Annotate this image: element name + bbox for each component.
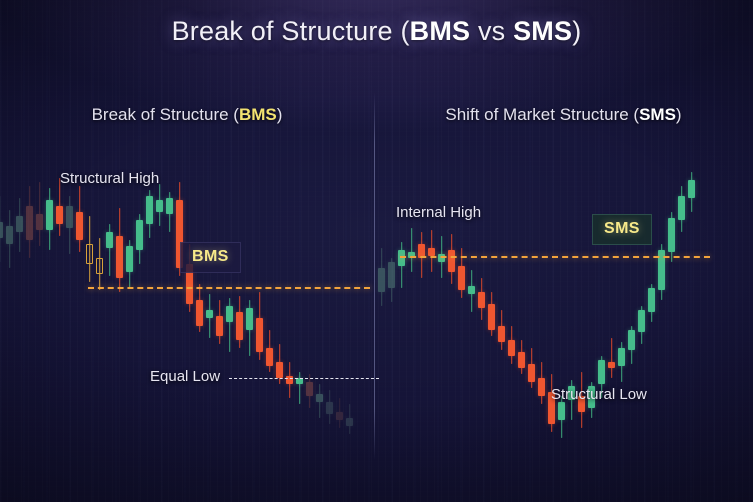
candle-body [508,340,515,356]
candlestick [66,196,73,254]
candle-body [618,348,625,366]
candle-body [106,232,113,248]
candlestick [418,232,425,278]
candlestick [196,284,203,332]
candle-body [226,306,233,322]
page-title-prefix: Break of Structure ( [172,16,410,46]
candlestick [16,198,23,252]
candlestick [428,230,435,272]
candlestick [528,348,535,388]
page-title-suffix: ) [572,16,581,46]
candlestick [548,374,555,432]
page-title-sms: SMS [513,16,572,46]
candle-body [528,364,535,382]
candle-body [326,402,333,414]
candlestick [246,300,253,356]
candle-body [236,312,243,340]
candle-body [316,394,323,402]
candlestick [638,306,645,344]
candle-wick [611,338,613,378]
candle-body [598,360,605,384]
candle-body [628,330,635,350]
candle-body [678,196,685,220]
candle-body [558,402,565,420]
candlestick [498,310,505,350]
candle-body [398,250,405,266]
candle-body [116,236,123,278]
candle-body [136,220,143,250]
candlestick [96,238,103,290]
candle-body [518,352,525,368]
candlestick [76,186,83,252]
candlestick [86,216,93,282]
annotation-equal-low: Equal Low [150,368,220,385]
candle-body [688,180,695,198]
candle-body [306,382,313,396]
candle-body [668,218,675,252]
candle-body [66,206,73,228]
candlestick [618,342,625,382]
candle-body [378,268,385,292]
candlestick [6,210,13,268]
candlestick [336,398,343,428]
candle-body [336,412,343,420]
candlestick [628,326,635,364]
annotation-structural-high: Structural High [60,170,159,187]
candle-body [46,200,53,230]
candlestick [156,184,163,226]
candle-body [388,262,395,288]
left-panel-title: Break of Structure (BMS) [0,105,374,125]
right-panel-title-prefix: Shift of Market Structure ( [445,105,639,124]
candlestick [448,234,455,284]
candle-body [56,206,63,224]
candle-body [428,248,435,256]
candlestick [538,362,545,404]
candle-wick [411,228,413,272]
page-title-bms: BMS [410,16,471,46]
candle-body [76,212,83,240]
candlestick [608,338,615,378]
candle-body [196,300,203,326]
candlestick [106,224,113,276]
candle-body [246,308,253,330]
candle-body [156,200,163,212]
candle-body [538,378,545,396]
candlestick [146,190,153,238]
candlestick [306,374,313,408]
candle-body [498,326,505,342]
candle-body [648,288,655,312]
left-panel-title-suffix: ) [277,105,283,124]
candlestick [668,212,675,262]
candlestick [658,244,665,300]
candlestick [648,284,655,322]
candlestick [488,292,495,336]
candle-body [6,226,13,244]
candlestick [508,326,515,364]
candle-body [36,214,43,230]
sms-break-line [400,256,710,258]
bms-badge: BMS [180,242,241,273]
candle-body [468,286,475,294]
candle-body [256,318,263,352]
candlestick [468,270,475,312]
candlestick [36,182,43,246]
candlestick [256,292,263,360]
candle-body [266,348,273,366]
candle-body [126,246,133,272]
candlestick [26,186,33,258]
candlestick [296,372,303,404]
page-title-mid: vs [470,16,513,46]
candlestick [166,192,173,232]
candlestick-chart-sms [374,0,753,502]
page-title: Break of Structure (BMS vs SMS) [0,16,753,47]
candlestick [266,330,273,372]
candle-body [478,292,485,308]
right-panel-title-suffix: ) [676,105,682,124]
candlestick [378,248,385,306]
annotation-structural-low: Structural Low [551,386,647,403]
candlestick [236,296,243,348]
candle-wick [299,372,301,404]
candlestick [478,278,485,320]
candle-body [216,316,223,336]
candle-body [448,250,455,272]
left-panel-title-prefix: Break of Structure ( [92,105,239,124]
candle-body [206,310,213,318]
candle-body [96,258,103,274]
candlestick [116,208,123,292]
candlestick [408,228,415,272]
candlestick [678,186,685,232]
candle-body [458,266,465,290]
candlestick [316,384,323,418]
slide-canvas: Break of Structure (BMS vs SMS) Break of… [0,0,753,502]
candle-body [638,310,645,332]
candlestick [286,362,293,398]
left-panel-title-key: BMS [239,105,277,124]
annotation-internal-high: Internal High [396,204,481,221]
candlestick [206,294,213,338]
bms-break-line [88,287,370,289]
candlestick [326,390,333,424]
candle-body [276,362,283,378]
candlestick [226,298,233,352]
candle-body [346,418,353,426]
candle-body [166,198,173,214]
candle-body [488,304,495,330]
equal-low-line [229,378,379,379]
candlestick [688,172,695,212]
candle-body [26,206,33,240]
candlestick [216,300,223,344]
candle-body [146,196,153,224]
candle-body [86,244,93,264]
candlestick [126,240,133,288]
right-panel-title-key: SMS [639,105,676,124]
panel-divider [374,92,375,460]
candlestick [388,258,395,302]
right-panel-title: Shift of Market Structure (SMS) [374,105,753,125]
sms-badge: SMS [592,214,652,245]
candle-body [16,216,23,232]
candlestick [46,188,53,250]
candlestick [398,242,405,288]
candlestick [136,214,143,264]
candle-body [608,362,615,368]
candlestick [0,196,3,262]
candle-body [0,222,3,238]
candlestick [518,340,525,374]
candlestick [346,404,353,434]
